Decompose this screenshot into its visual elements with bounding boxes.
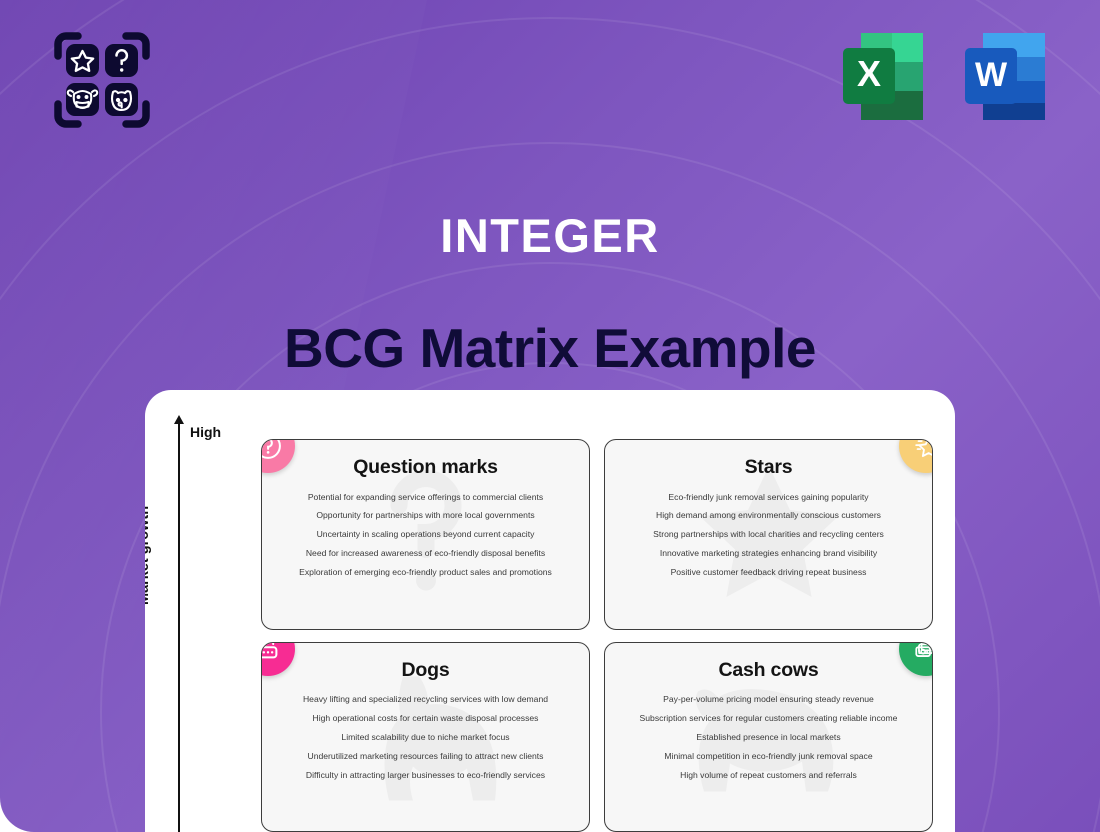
- quadrant-title: Stars: [617, 456, 920, 479]
- list-item: Strong partnerships with local charities…: [617, 526, 920, 545]
- axis-label-market-growth: Market growth: [145, 506, 152, 605]
- list-item: High operational costs for certain waste…: [274, 709, 577, 728]
- quadrant-question-marks[interactable]: Question marks Potential for expanding s…: [261, 439, 590, 630]
- quadrant-item-list: Pay-per-volume pricing model ensuring st…: [617, 691, 920, 785]
- matrix-grid: Question marks Potential for expanding s…: [261, 439, 933, 832]
- quadrant-stars[interactable]: Stars Eco-friendly junk removal services…: [604, 439, 933, 630]
- list-item: Opportunity for partnerships with more l…: [274, 507, 577, 526]
- office-app-icons: X W: [833, 28, 1055, 125]
- quadrant-title: Cash cows: [617, 659, 920, 682]
- integer-bcg-logo: [52, 30, 152, 130]
- brand-name: INTEGER: [0, 208, 1100, 263]
- axis-tick-high: High: [190, 424, 221, 440]
- word-icon: W: [955, 28, 1055, 125]
- list-item: Uncertainty in scaling operations beyond…: [274, 526, 577, 545]
- list-item: Underutilized marketing resources failin…: [274, 747, 577, 766]
- list-item: Exploration of emerging eco-friendly pro…: [274, 564, 577, 583]
- list-item: Pay-per-volume pricing model ensuring st…: [617, 691, 920, 710]
- list-item: Eco-friendly junk removal services gaini…: [617, 488, 920, 507]
- quadrant-item-list: Potential for expanding service offering…: [274, 488, 577, 582]
- quadrant-title: Question marks: [274, 456, 577, 479]
- list-item: Difficulty in attracting larger business…: [274, 766, 577, 785]
- svg-text:X: X: [857, 53, 881, 94]
- list-item: High demand among environmentally consci…: [617, 507, 920, 526]
- quadrant-title: Dogs: [274, 659, 577, 682]
- list-item: Limited scalability due to niche market …: [274, 728, 577, 747]
- list-item: Potential for expanding service offering…: [274, 488, 577, 507]
- excel-icon: X: [833, 28, 933, 125]
- slide-canvas: X W INTEGER BCG Matrix Example High Mark…: [0, 0, 1100, 832]
- svg-text:W: W: [975, 56, 1008, 94]
- quadrant-dogs[interactable]: Dogs Heavy lifting and specialized recyc…: [261, 642, 590, 832]
- list-item: Subscription services for regular custom…: [617, 709, 920, 728]
- quadrant-cash-cows[interactable]: Cash cows Pay-per-volume pricing model e…: [604, 642, 933, 832]
- list-item: Established presence in local markets: [617, 728, 920, 747]
- quadrant-item-list: Heavy lifting and specialized recycling …: [274, 691, 577, 785]
- list-item: Heavy lifting and specialized recycling …: [274, 691, 577, 710]
- list-item: Need for increased awareness of eco-frie…: [274, 545, 577, 564]
- list-item: High volume of repeat customers and refe…: [617, 766, 920, 785]
- quadrant-item-list: Eco-friendly junk removal services gaini…: [617, 488, 920, 582]
- list-item: Innovative marketing strategies enhancin…: [617, 545, 920, 564]
- list-item: Minimal competition in eco-friendly junk…: [617, 747, 920, 766]
- list-item: Positive customer feedback driving repea…: [617, 564, 920, 583]
- market-growth-axis: [178, 422, 180, 832]
- page-title: BCG Matrix Example: [0, 316, 1100, 380]
- bcg-matrix-card: High Market growth Que: [145, 390, 955, 832]
